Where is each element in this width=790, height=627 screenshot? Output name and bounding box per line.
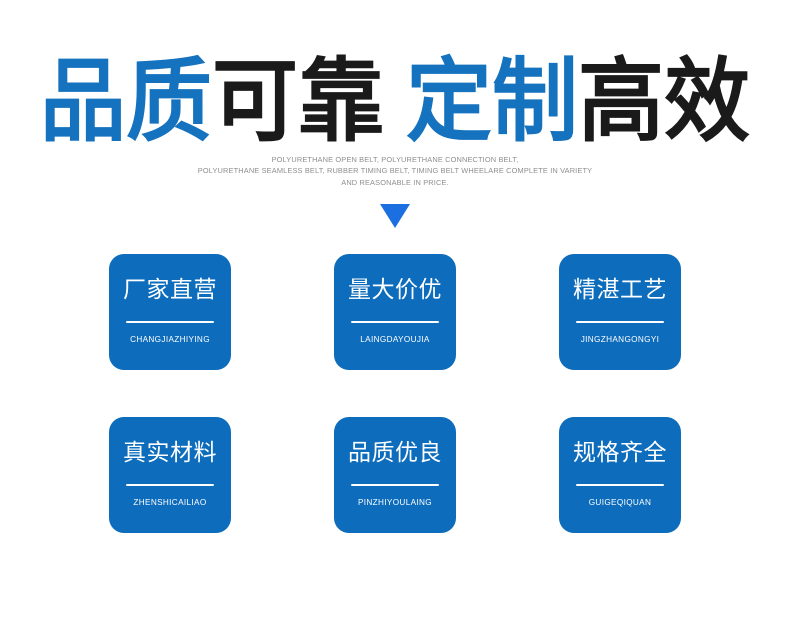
page-title: 品质可靠定制高效 <box>0 52 790 152</box>
feature-card-divider <box>126 321 214 323</box>
feature-card-divider <box>126 484 214 486</box>
headline-segment-2: 可靠 <box>212 49 384 155</box>
feature-card-pinyin: LAINGDAYOUJIA <box>360 334 429 346</box>
feature-card-guigeqiquan[interactable]: 规格齐全 GUIGEQIQUAN <box>559 417 681 533</box>
subtitle-line-2: POLYURETHANE SEAMLESS BELT, RUBBER TIMIN… <box>0 165 790 176</box>
subtitle-line-1: POLYURETHANE OPEN BELT, POLYURETHANE CON… <box>0 154 790 165</box>
subtitle-line-3: AND REASONABLE IN PRICE. <box>0 177 790 188</box>
feature-card-title: 品质优良 <box>348 439 442 467</box>
subtitle: POLYURETHANE OPEN BELT, POLYURETHANE CON… <box>0 154 790 188</box>
feature-card-divider <box>351 484 439 486</box>
feature-card-pinyin: JINGZHANGONGYI <box>581 334 660 346</box>
feature-card-divider <box>576 484 664 486</box>
feature-card-title: 量大价优 <box>348 276 442 304</box>
feature-card-pinyin: CHANGJIAZHIYING <box>130 334 210 346</box>
feature-card-divider <box>351 321 439 323</box>
feature-card-jingzhangongyi[interactable]: 精湛工艺 JINGZHANGONGYI <box>559 254 681 370</box>
feature-card-title: 精湛工艺 <box>573 276 667 304</box>
feature-card-title: 厂家直营 <box>123 276 217 304</box>
feature-card-pinzhiyoulaing[interactable]: 品质优良 PINZHIYOULAING <box>334 417 456 533</box>
triangle-down-icon <box>380 204 410 228</box>
headline-segment-4: 高效 <box>578 49 750 155</box>
feature-card-grid: 厂家直营 CHANGJIAZHIYING 量大价优 LAINGDAYOUJIA … <box>109 254 681 533</box>
feature-card-divider <box>576 321 664 323</box>
headline-segment-1: 品质 <box>40 49 212 155</box>
headline-segment-3: 定制 <box>406 49 578 155</box>
feature-card-pinyin: ZHENSHICAILIAO <box>133 497 206 509</box>
feature-card-changjiazhiying[interactable]: 厂家直营 CHANGJIAZHIYING <box>109 254 231 370</box>
feature-card-laingdayoujia[interactable]: 量大价优 LAINGDAYOUJIA <box>334 254 456 370</box>
feature-card-pinyin: PINZHIYOULAING <box>358 497 432 509</box>
arrow-container <box>0 204 790 230</box>
feature-card-title: 真实材料 <box>123 439 217 467</box>
feature-card-title: 规格齐全 <box>573 439 667 467</box>
feature-card-pinyin: GUIGEQIQUAN <box>589 497 652 509</box>
feature-card-zhenshicailiao[interactable]: 真实材料 ZHENSHICAILIAO <box>109 417 231 533</box>
promo-banner: 品质可靠定制高效 POLYURETHANE OPEN BELT, POLYURE… <box>0 0 790 627</box>
